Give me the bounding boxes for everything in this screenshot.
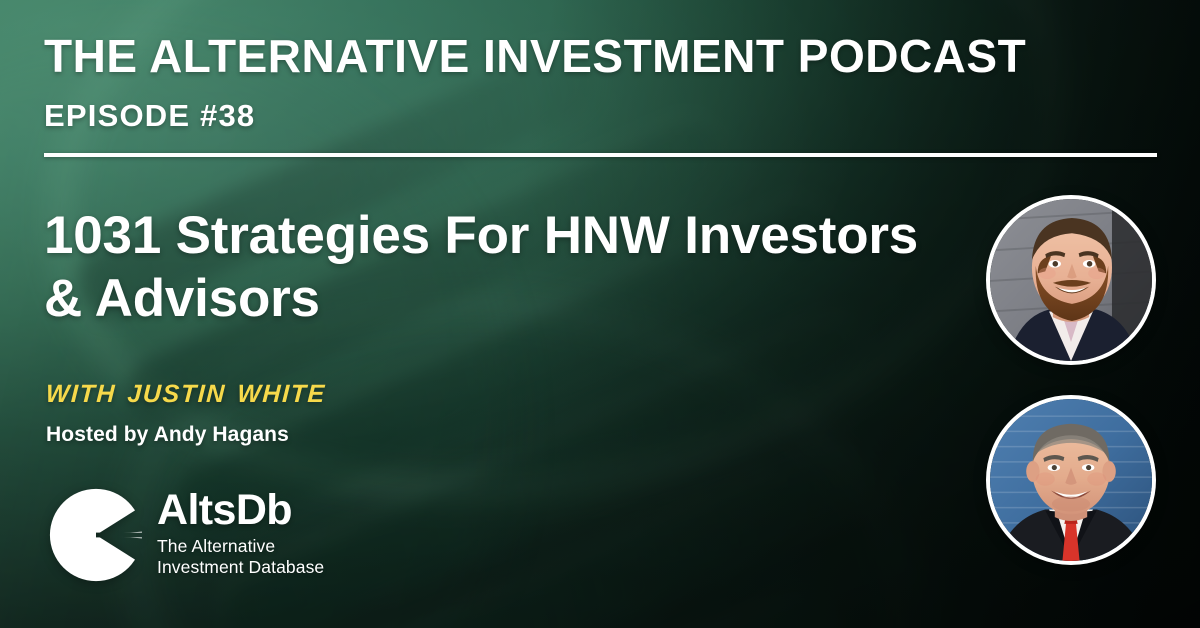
- altsdb-tagline: The Alternative Investment Database: [157, 536, 324, 579]
- altsdb-logo: AltsDb The Alternative Investment Databa…: [48, 487, 324, 583]
- content-layer: THE ALTERNATIVE INVESTMENT PODCAST EPISO…: [0, 0, 1200, 628]
- header-divider: [44, 153, 1157, 157]
- host-name-line: Hosted by Andy Hagans: [46, 423, 289, 447]
- guest-name-line: With Justin White: [45, 371, 327, 411]
- portrait-photo-guest: [990, 199, 1152, 361]
- altsdb-logo-text: AltsDb The Alternative Investment Databa…: [157, 487, 324, 579]
- altsdb-tagline-line2: Investment Database: [157, 557, 324, 578]
- guest-avatar: [986, 195, 1156, 365]
- episode-number-label: EPISODE #38: [44, 98, 255, 134]
- altsdb-tagline-line1: The Alternative: [157, 536, 324, 557]
- altsdb-wordmark: AltsDb: [157, 489, 324, 532]
- host-avatar: [986, 395, 1156, 565]
- show-title: THE ALTERNATIVE INVESTMENT PODCAST: [44, 32, 1026, 80]
- altsdb-pie-chevron-icon: [48, 487, 144, 583]
- episode-title: 1031 Strategies For HNW Investors & Advi…: [44, 204, 934, 330]
- portrait-photo-host: [990, 399, 1152, 561]
- podcast-episode-graphic: THE ALTERNATIVE INVESTMENT PODCAST EPISO…: [0, 0, 1200, 628]
